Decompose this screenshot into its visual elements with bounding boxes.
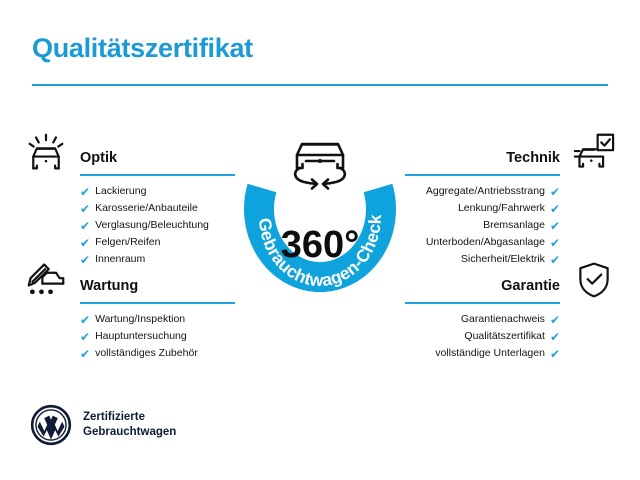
list-item: ✔Hauptuntersuchung xyxy=(22,328,258,345)
badge-360-gebrauchtwagen-check: Gebrauchtwagen-Check 360° xyxy=(239,124,401,314)
check-icon: ✔ xyxy=(550,220,560,232)
badge-center-label: 360° xyxy=(281,224,360,266)
vw-certified-label: Zertifizierte Gebrauchtwagen xyxy=(83,410,176,440)
check-icon: ✔ xyxy=(80,186,90,198)
check-icon: ✔ xyxy=(550,314,560,326)
list-item: ✔Verglasung/Beleuchtung xyxy=(22,217,258,234)
section-header: Technik xyxy=(382,130,618,176)
list-item: vollständige Unterlagen✔ xyxy=(382,345,618,362)
check-icon: ✔ xyxy=(80,237,90,249)
section-wartung: Wartung ✔Wartung/Inspektion ✔Hauptunters… xyxy=(22,258,258,355)
list-item-label: Hauptuntersuchung xyxy=(95,331,187,342)
list-item: Unterboden/Abgasanlage✔ xyxy=(382,234,618,251)
list-item: ✔Karosserie/Anbauteile xyxy=(22,200,258,217)
check-icon: ✔ xyxy=(550,348,560,360)
check-icon: ✔ xyxy=(80,220,90,232)
list-item: ✔Lackierung xyxy=(22,183,258,200)
car-service-icon xyxy=(24,260,68,300)
section-title: Optik xyxy=(80,150,117,166)
shield-check-icon xyxy=(572,260,616,300)
list-item: Garantienachweis✔ xyxy=(382,311,618,328)
list-item: Bremsanlage✔ xyxy=(382,217,618,234)
section-header: Optik xyxy=(22,130,258,176)
check-icon: ✔ xyxy=(550,203,560,215)
section-title: Technik xyxy=(506,150,560,166)
car-checkbox-icon xyxy=(572,132,616,172)
page-title: Qualitätszertifikat xyxy=(32,33,253,64)
section-divider xyxy=(405,302,560,304)
list-item-label: Unterboden/Abgasanlage xyxy=(426,237,545,248)
list-item: Aggregate/Antriebsstrang✔ xyxy=(382,183,618,200)
section-optik: Optik ✔Lackierung ✔Karosserie/Anbauteile… xyxy=(22,130,258,261)
check-icon: ✔ xyxy=(80,331,90,343)
list-item-label: Karosserie/Anbauteile xyxy=(95,203,198,214)
check-icon: ✔ xyxy=(80,314,90,326)
list-item-label: vollständiges Zubehör xyxy=(95,348,198,359)
car-rotation-icon xyxy=(295,144,345,189)
list-item-label: Lenkung/Fahrwerk xyxy=(458,203,545,214)
list-item-label: Verglasung/Beleuchtung xyxy=(95,220,209,231)
list-item: ✔vollständiges Zubehör xyxy=(22,345,258,362)
section-garantie: Garantie Garantienachweis✔ Qualitätszert… xyxy=(382,258,618,355)
vw-logo-icon xyxy=(30,404,72,446)
certificate-page: Qualitätszertifikat Optik xyxy=(0,0,640,480)
checklist-wartung: ✔Wartung/Inspektion ✔Hauptuntersuchung ✔… xyxy=(22,311,258,362)
check-icon: ✔ xyxy=(550,237,560,249)
vw-label-line2: Gebrauchtwagen xyxy=(83,425,176,440)
section-title: Garantie xyxy=(501,278,560,294)
checklist-technik: Aggregate/Antriebsstrang✔ Lenkung/Fahrwe… xyxy=(382,183,618,268)
vw-certified-footer: Zertifizierte Gebrauchtwagen xyxy=(30,404,176,446)
checklist-garantie: Garantienachweis✔ Qualitätszertifikat✔ v… xyxy=(382,311,618,362)
list-item-label: Felgen/Reifen xyxy=(95,237,160,248)
list-item: ✔Felgen/Reifen xyxy=(22,234,258,251)
section-divider xyxy=(405,174,560,176)
list-item-label: Aggregate/Antriebsstrang xyxy=(426,186,545,197)
list-item-label: Garantienachweis xyxy=(461,314,545,325)
list-item-label: Wartung/Inspektion xyxy=(95,314,185,325)
list-item-label: Bremsanlage xyxy=(483,220,545,231)
section-divider xyxy=(80,302,235,304)
vw-label-line1: Zertifizierte xyxy=(83,410,176,425)
check-icon: ✔ xyxy=(550,186,560,198)
list-item-label: Qualitätszertifikat xyxy=(464,331,545,342)
checklist-optik: ✔Lackierung ✔Karosserie/Anbauteile ✔Verg… xyxy=(22,183,258,268)
check-icon: ✔ xyxy=(80,348,90,360)
list-item-label: vollständige Unterlagen xyxy=(435,348,545,359)
title-divider xyxy=(32,84,608,86)
section-title: Wartung xyxy=(80,278,138,294)
check-icon: ✔ xyxy=(550,331,560,343)
section-header: Wartung xyxy=(22,258,258,304)
section-technik: Technik Aggregate/Antriebsstrang✔ Lenkun… xyxy=(382,130,618,261)
section-header: Garantie xyxy=(382,258,618,304)
section-divider xyxy=(80,174,235,176)
check-icon: ✔ xyxy=(80,203,90,215)
list-item: ✔Wartung/Inspektion xyxy=(22,311,258,328)
car-polish-icon xyxy=(24,132,68,172)
list-item: Qualitätszertifikat✔ xyxy=(382,328,618,345)
list-item: Lenkung/Fahrwerk✔ xyxy=(382,200,618,217)
list-item-label: Lackierung xyxy=(95,186,146,197)
